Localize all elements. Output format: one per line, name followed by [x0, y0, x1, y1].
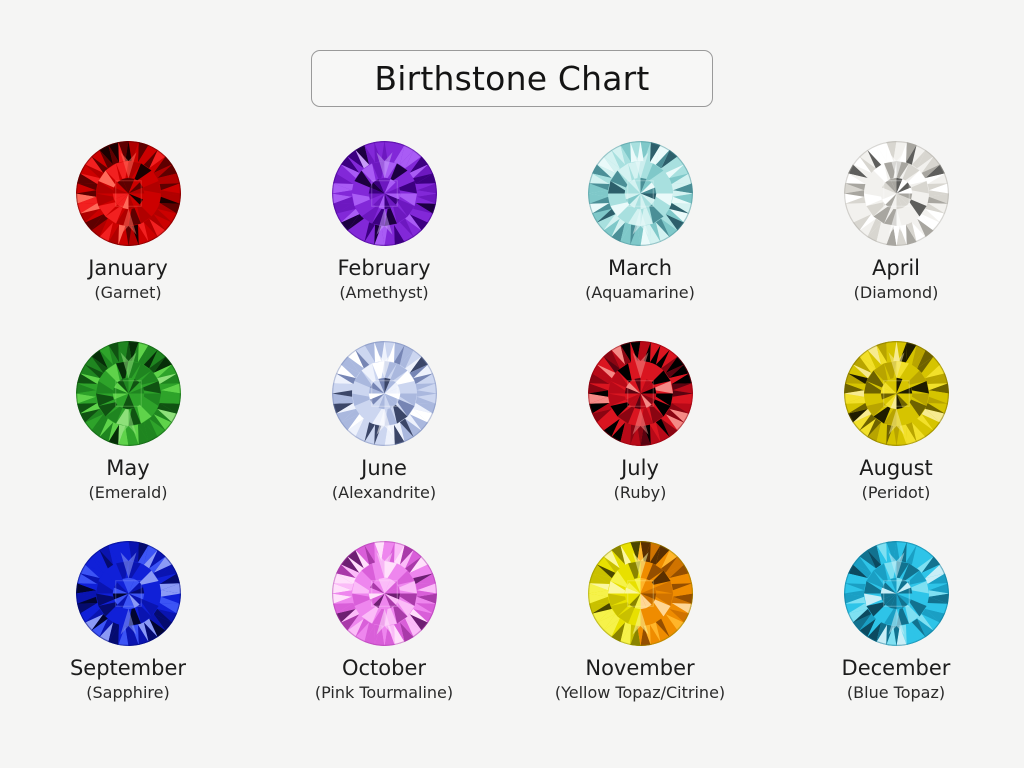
- stone-label: (Peridot): [862, 485, 931, 502]
- stone-label: (Aquamarine): [585, 285, 695, 302]
- stone-label: (Yellow Topaz/Citrine): [555, 685, 725, 702]
- birthstone-cell-may: May(Emerald): [0, 340, 256, 540]
- round-brilliant-gem-icon: [587, 140, 694, 247]
- birthstone-cell-september: September(Sapphire): [0, 540, 256, 740]
- stone-label: (Pink Tourmaline): [315, 685, 453, 702]
- month-label: December: [842, 657, 951, 679]
- birthstone-cell-october: October(Pink Tourmaline): [256, 540, 512, 740]
- birthstone-cell-august: August(Peridot): [768, 340, 1024, 540]
- round-brilliant-gem-icon: [843, 540, 950, 647]
- round-brilliant-gem-icon: [75, 540, 182, 647]
- birthstone-cell-december: December(Blue Topaz): [768, 540, 1024, 740]
- round-brilliant-gem-icon: [843, 340, 950, 447]
- birthstone-cell-july: July(Ruby): [512, 340, 768, 540]
- stone-label: (Ruby): [614, 485, 667, 502]
- round-brilliant-gem-icon: [75, 340, 182, 447]
- birthstone-grid: January(Garnet)February(Amethyst)March(A…: [0, 140, 1024, 740]
- round-brilliant-gem-icon: [331, 340, 438, 447]
- birthstone-cell-march: March(Aquamarine): [512, 140, 768, 340]
- round-brilliant-gem-icon: [331, 540, 438, 647]
- stone-label: (Sapphire): [86, 685, 169, 702]
- month-label: May: [106, 457, 149, 479]
- birthstone-cell-april: April(Diamond): [768, 140, 1024, 340]
- month-label: April: [872, 257, 920, 279]
- month-label: July: [621, 457, 659, 479]
- page-title-box: Birthstone Chart: [311, 50, 713, 107]
- stone-label: (Blue Topaz): [847, 685, 945, 702]
- month-label: March: [608, 257, 672, 279]
- round-brilliant-gem-icon: [843, 140, 950, 247]
- round-brilliant-gem-icon: [331, 140, 438, 247]
- round-brilliant-gem-split-icon: [587, 540, 694, 647]
- birthstone-cell-june: June(Alexandrite): [256, 340, 512, 540]
- stone-label: (Garnet): [94, 285, 161, 302]
- round-brilliant-gem-icon: [75, 140, 182, 247]
- month-label: August: [859, 457, 933, 479]
- month-label: November: [585, 657, 694, 679]
- birthstone-cell-february: February(Amethyst): [256, 140, 512, 340]
- birthstone-cell-november: November(Yellow Topaz/Citrine): [512, 540, 768, 740]
- month-label: February: [337, 257, 430, 279]
- month-label: June: [361, 457, 407, 479]
- month-label: January: [88, 257, 168, 279]
- month-label: October: [342, 657, 426, 679]
- page-title: Birthstone Chart: [374, 59, 649, 98]
- stone-label: (Alexandrite): [332, 485, 436, 502]
- month-label: September: [70, 657, 186, 679]
- round-brilliant-gem-icon: [587, 340, 694, 447]
- birthstone-cell-january: January(Garnet): [0, 140, 256, 340]
- stone-label: (Diamond): [854, 285, 939, 302]
- stone-label: (Amethyst): [339, 285, 428, 302]
- stone-label: (Emerald): [88, 485, 167, 502]
